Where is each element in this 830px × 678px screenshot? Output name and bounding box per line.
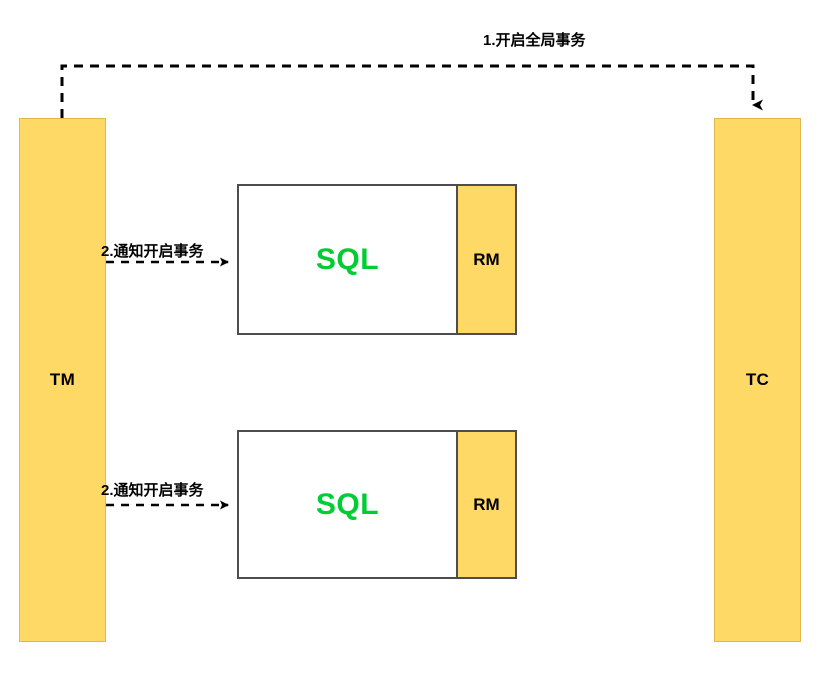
edge-label-global-transaction: 1.开启全局事务 [483, 29, 586, 50]
sql-label-1: SQL [316, 243, 379, 277]
edge-global-transaction [62, 66, 753, 118]
resource-box-2[interactable]: SQL RM [237, 430, 517, 579]
edge-label-notify-transaction-2: 2.通知开启事务 [101, 479, 204, 500]
resource-box-1[interactable]: SQL RM [237, 184, 517, 335]
actor-tm[interactable]: TM [19, 118, 106, 642]
sql-area-2: SQL [239, 432, 456, 577]
actor-tc-label: TC [746, 370, 769, 390]
rm-area-1[interactable]: RM [456, 186, 515, 333]
edge-label-notify-transaction-1: 2.通知开启事务 [101, 240, 204, 261]
diagram-canvas: TM TC SQL RM SQL RM 1.开启全局事务 2.通知开启事务 2.… [0, 0, 830, 678]
actor-tc[interactable]: TC [714, 118, 801, 642]
rm-area-2[interactable]: RM [456, 432, 515, 577]
sql-area-1: SQL [239, 186, 456, 333]
sql-label-2: SQL [316, 488, 379, 522]
rm-label-1: RM [473, 250, 499, 270]
rm-label-2: RM [473, 495, 499, 515]
actor-tm-label: TM [50, 370, 75, 390]
